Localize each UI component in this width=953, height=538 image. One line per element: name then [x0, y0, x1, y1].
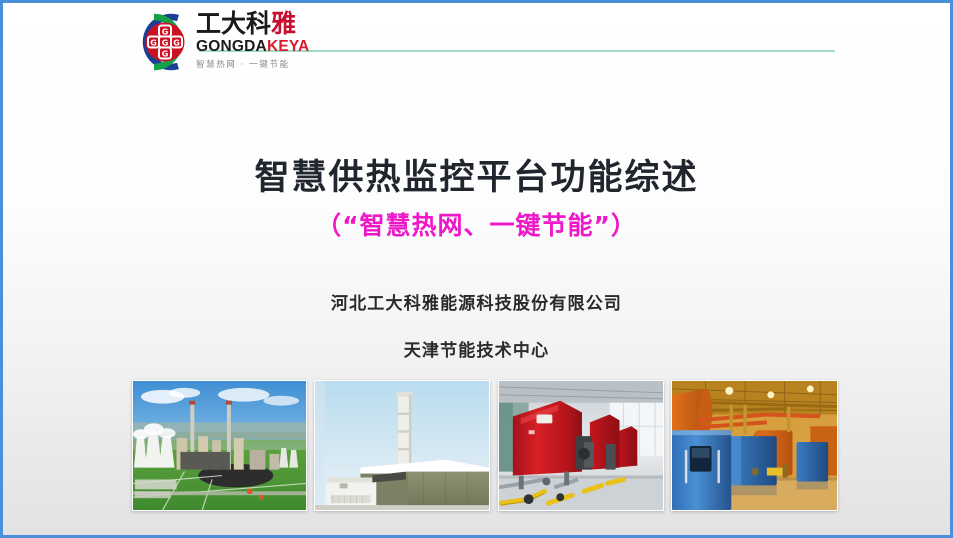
presentation-slide: G G G G G 工大科雅 GONGDAKEYA 智慧热网 · 一键节能 智慧…: [0, 0, 953, 538]
logo-chinese-prefix: 工大科: [196, 9, 271, 38]
logo-chinese-name: 工大科雅: [196, 10, 319, 37]
blue-heat-exchange-station-photo: [671, 380, 838, 511]
gongda-keya-emblem-icon: G G G G G: [134, 11, 196, 73]
logo-chinese-accent: 雅: [271, 9, 296, 38]
logo-english-primary: GONGDA: [196, 38, 267, 55]
svg-text:G: G: [162, 39, 169, 48]
department-name: 天津节能技术中心: [3, 336, 950, 361]
svg-text:G: G: [162, 50, 169, 59]
svg-text:G: G: [150, 39, 157, 48]
power-plant-aerial-photo: [132, 380, 307, 511]
slide-subtitle: （“智慧热网、一键节能”）: [3, 206, 950, 242]
slide-header: G G G G G 工大科雅 GONGDAKEYA 智慧热网 · 一键节能: [3, 3, 950, 83]
organization-name: 河北工大科雅能源科技股份有限公司: [3, 289, 950, 314]
company-logo: G G G G G 工大科雅 GONGDAKEYA 智慧热网 · 一键节能: [134, 9, 319, 75]
logo-english-name: GONGDAKEYA: [196, 38, 319, 55]
photo-strip: [132, 380, 838, 514]
red-boilers-interior-photo: [498, 380, 664, 511]
svg-text:G: G: [173, 39, 180, 48]
logo-wordmark: 工大科雅 GONGDAKEYA 智慧热网 · 一键节能: [196, 10, 319, 74]
logo-tagline: 智慧热网 · 一键节能: [196, 59, 319, 71]
slide-title: 智慧供热监控平台功能综述: [3, 149, 950, 200]
boiler-house-exterior-photo: [314, 380, 490, 511]
logo-english-accent: KEYA: [267, 38, 309, 55]
svg-text:G: G: [162, 28, 169, 37]
